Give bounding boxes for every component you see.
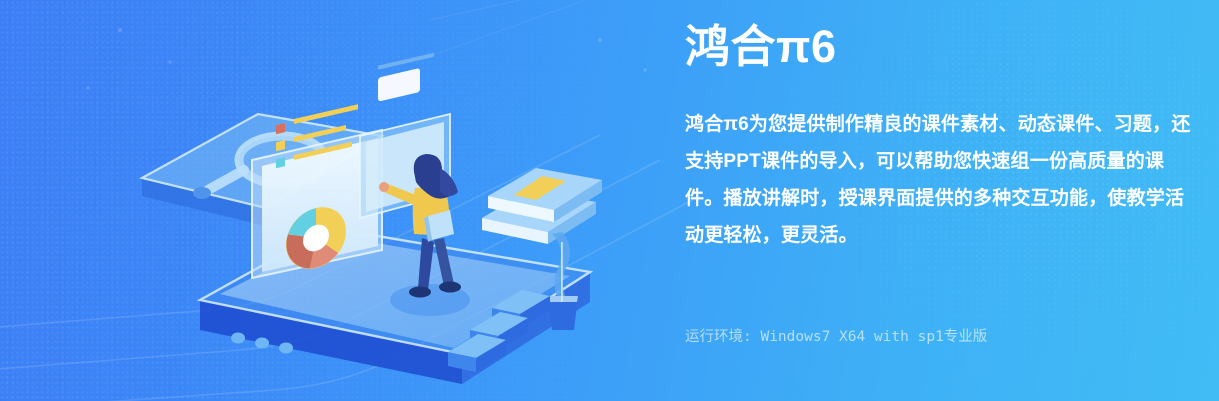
banner-copy: 鸿合π6 鸿合π6为您提供制作精良的课件素材、动态课件、习题，还支持PPT课件的…	[685, 0, 1205, 401]
runtime-environment-line-1: 运行环境: Windows7 X64 with sp1专业版	[685, 324, 987, 350]
isometric-classroom-illustration	[30, 10, 650, 400]
runtime-environment-label: 运行环境:	[685, 329, 752, 345]
page-title: 鸿合π6	[685, 18, 836, 76]
product-hero-banner: 鸿合π6 鸿合π6为您提供制作精良的课件素材、动态课件、习题，还支持PPT课件的…	[0, 0, 1219, 401]
runtime-environment-value-1: Windows7 X64 with sp1专业版	[760, 329, 987, 345]
runtime-environment: 运行环境: Windows7 X64 with sp1专业版 Windows10…	[685, 272, 987, 401]
book-stack	[482, 168, 602, 244]
product-description: 鸿合π6为您提供制作精良的课件素材、动态课件、习题，还支持PPT课件的导入，可以…	[685, 106, 1195, 254]
